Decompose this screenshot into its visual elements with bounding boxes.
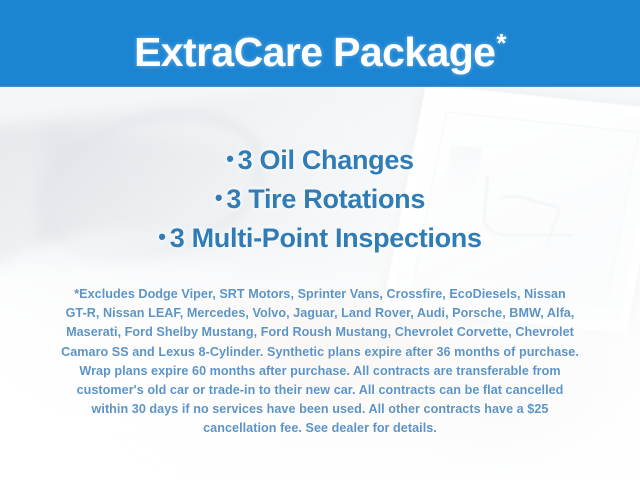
disclaimer-line: cancellation fee. See dealer for details…: [28, 419, 612, 438]
header-banner: ExtraCare Package*: [0, 0, 640, 87]
disclaimer-line: GT-R, Nissan LEAF, Mercedes, Volvo, Jagu…: [28, 304, 612, 323]
bullet-icon: •: [215, 185, 222, 210]
bullet-icon: •: [158, 224, 165, 249]
disclaimer-line: Maserati, Ford Shelby Mustang, Ford Rous…: [28, 323, 612, 342]
disclaimer-line: within 30 days if no services have been …: [28, 400, 612, 419]
page-title: ExtraCare Package*: [0, 14, 640, 81]
benefit-item-tire-rotations: •3 Tire Rotations: [0, 179, 640, 218]
disclaimer-line: *Excludes Dodge Viper, SRT Motors, Sprin…: [28, 285, 612, 304]
bullet-icon: •: [226, 146, 233, 171]
title-asterisk: *: [496, 28, 506, 58]
disclaimer-line: customer's old car or trade-in to their …: [28, 381, 612, 400]
benefit-item-label: 3 Multi-Point Inspections: [170, 223, 482, 253]
extracare-package-ad: ExtraCare Package* •3 Oil Changes •3 Tir…: [0, 0, 640, 480]
benefit-item-oil-changes: •3 Oil Changes: [0, 140, 640, 179]
disclaimer-line: Wrap plans expire 60 months after purcha…: [28, 362, 612, 381]
benefit-item-label: 3 Tire Rotations: [226, 184, 425, 214]
ad-content: •3 Oil Changes •3 Tire Rotations •3 Mult…: [0, 87, 640, 480]
benefit-item-multi-point-inspections: •3 Multi-Point Inspections: [0, 218, 640, 257]
page-title-text: ExtraCare Package: [134, 29, 495, 75]
benefits-list: •3 Oil Changes •3 Tire Rotations •3 Mult…: [0, 140, 640, 257]
disclaimer-text: *Excludes Dodge Viper, SRT Motors, Sprin…: [28, 285, 612, 439]
benefit-item-label: 3 Oil Changes: [238, 145, 414, 175]
disclaimer-line: Camaro SS and Lexus 8-Cylinder. Syntheti…: [28, 343, 612, 362]
